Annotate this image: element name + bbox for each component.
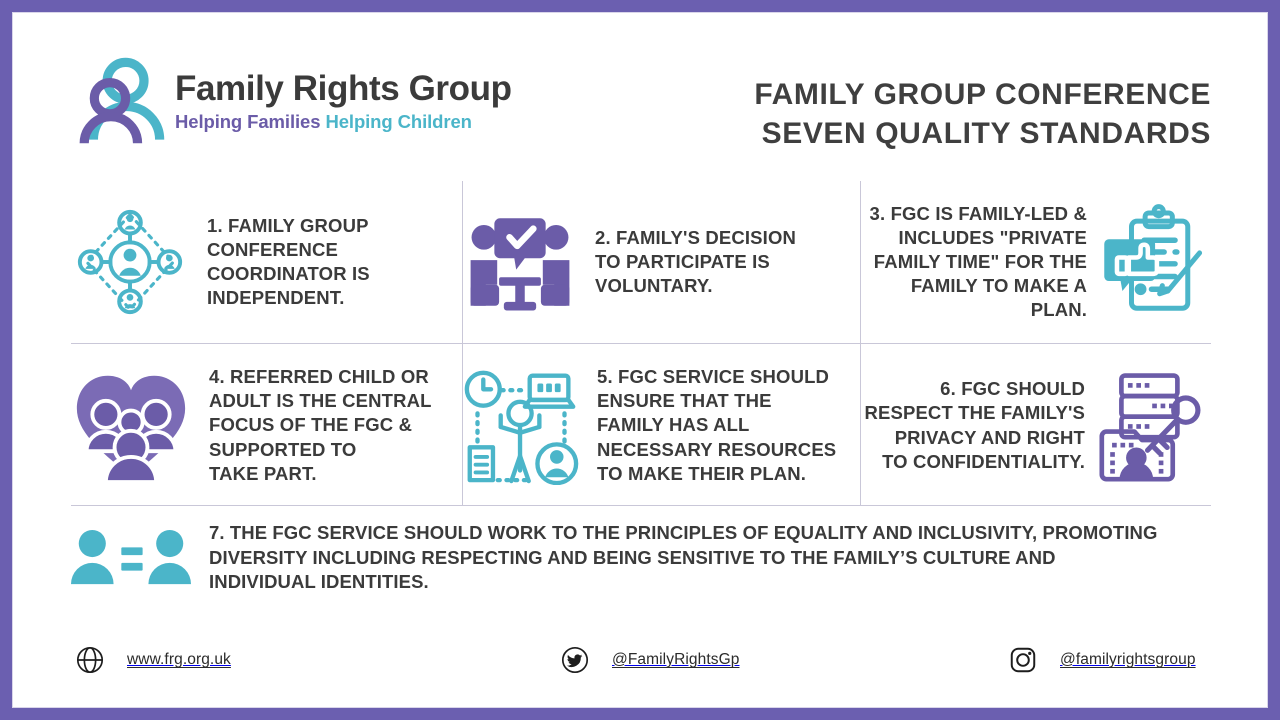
brand-logo: Family Rights Group Helping Families Hel…: [75, 55, 512, 147]
twitter-icon: [560, 645, 590, 675]
standard-text: 4. REFERRED CHILD OR ADULT IS THE CENTRA…: [209, 365, 432, 485]
standard-item: 4. REFERRED CHILD OR ADULT IS THE CENTRA…: [71, 345, 461, 506]
brand-text: Family Rights Group Helping Families Hel…: [175, 71, 512, 132]
standard-item: 5. FGC SERVICE SHOULD ENSURE THAT THE FA…: [463, 345, 859, 506]
standards-grid: 1. FAMILY GROUP CONFERENCE COORDINATOR I…: [71, 181, 1211, 506]
standard-item: 6. FGC SHOULD RESPECT THE FAMILY'S PRIVA…: [861, 345, 1211, 506]
poster-footer: www.frg.org.uk @FamilyRightsGp: [13, 641, 1267, 685]
brand-tagline: Helping Families Helping Children: [175, 113, 512, 132]
standard-seven-text: 7. THE FGC SERVICE SHOULD WORK TO THE PR…: [209, 521, 1158, 595]
standard-text: 1. FAMILY GROUP CONFERENCE COORDINATOR I…: [207, 214, 370, 310]
standard-item: 1. FAMILY GROUP CONFERENCE COORDINATOR I…: [71, 181, 461, 343]
twitter-link[interactable]: @FamilyRightsGp: [560, 645, 739, 675]
two-people-logo-icon: [75, 55, 167, 147]
files-key-privacy-icon: [1099, 368, 1211, 484]
website-label: www.frg.org.uk: [127, 651, 231, 669]
brand-name: Family Rights Group: [175, 71, 512, 106]
network-people-icon: [71, 203, 189, 321]
resources-person-icon: [463, 367, 579, 485]
meeting-checkmark-icon: [463, 205, 577, 319]
globe-icon: [75, 645, 105, 675]
standard-text: 5. FGC SERVICE SHOULD ENSURE THAT THE FA…: [597, 365, 836, 485]
clipboard-thumbsup-pencil-icon: [1101, 203, 1211, 321]
page-title: FAMILY GROUP CONFERENCE SEVEN QUALITY ST…: [754, 75, 1211, 153]
twitter-label: @FamilyRightsGp: [612, 651, 739, 669]
standard-text: 2. FAMILY'S DECISION TO PARTICIPATE IS V…: [595, 226, 796, 298]
standard-item: 2. FAMILY'S DECISION TO PARTICIPATE IS V…: [463, 181, 859, 343]
standard-text: 6. FGC SHOULD RESPECT THE FAMILY'S PRIVA…: [864, 377, 1085, 473]
grid-divider-horizontal: [71, 343, 1211, 344]
equality-two-people-icon: [71, 528, 191, 595]
instagram-icon: [1008, 645, 1038, 675]
poster-canvas: Family Rights Group Helping Families Hel…: [12, 12, 1268, 708]
heart-family-icon: [71, 368, 191, 484]
instagram-link[interactable]: @familyrightsgroup: [1008, 645, 1196, 675]
brand-tagline-part2: Helping Children: [325, 111, 471, 132]
standard-item: 3. FGC IS FAMILY-LED & INCLUDES "PRIVATE…: [861, 181, 1211, 343]
standard-text: 3. FGC IS FAMILY-LED & INCLUDES "PRIVATE…: [870, 202, 1087, 322]
standard-seven-item: 7. THE FGC SERVICE SHOULD WORK TO THE PR…: [71, 521, 1221, 595]
instagram-label: @familyrightsgroup: [1060, 651, 1196, 669]
website-link[interactable]: www.frg.org.uk: [75, 645, 231, 675]
brand-tagline-part1: Helping Families: [175, 111, 325, 132]
poster-header: Family Rights Group Helping Families Hel…: [13, 13, 1267, 168]
